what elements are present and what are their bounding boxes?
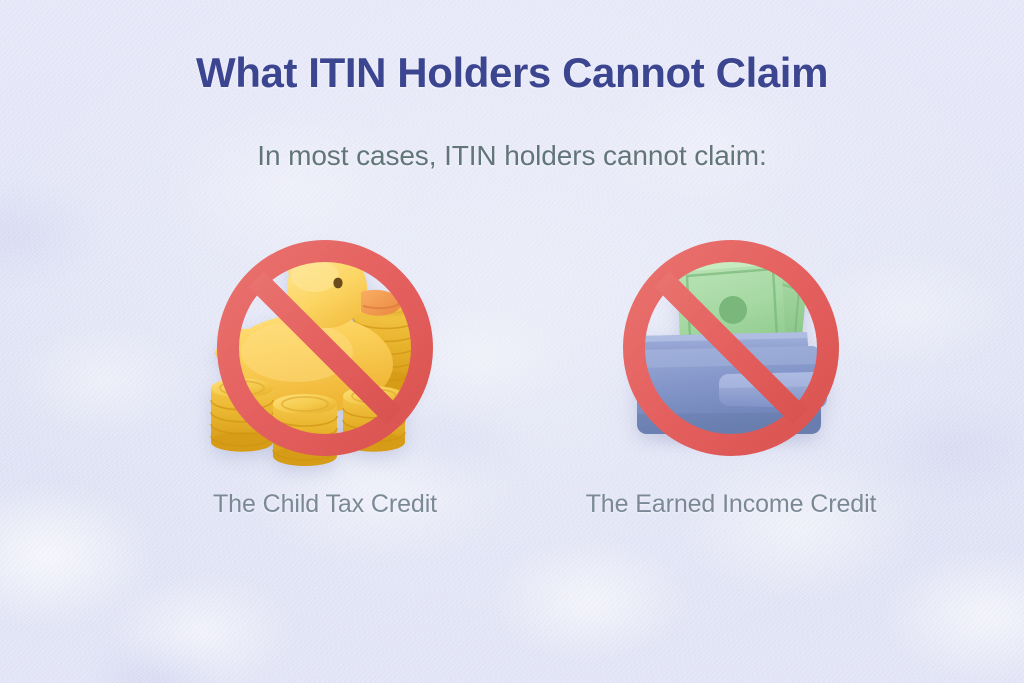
item-caption-earned-income-credit: The Earned Income Credit [541, 490, 921, 519]
item-child-tax-credit: The Child Tax Credit [135, 228, 515, 519]
wallet-front-body [637, 346, 827, 434]
item-caption-child-tax-credit: The Child Tax Credit [135, 490, 515, 519]
rubber-duck-and-coin-stacks-icon [205, 228, 445, 468]
items-row: The Child Tax Credit [0, 228, 1024, 548]
infographic-canvas: What ITIN Holders Cannot Claim In most c… [0, 0, 1024, 683]
coin-stack-front-center [273, 394, 337, 466]
duck-eye [333, 278, 342, 289]
page-subtitle: In most cases, ITIN holders cannot claim… [0, 140, 1024, 172]
banknote-portrait-head [719, 296, 747, 324]
icon-stage-child-tax-credit [205, 228, 445, 468]
duck-beak [361, 290, 401, 316]
wallet-with-banknotes-icon [611, 228, 851, 468]
icon-stage-earned-income-credit [611, 228, 851, 468]
item-earned-income-credit: The Earned Income Credit [541, 228, 921, 519]
page-title: What ITIN Holders Cannot Claim [0, 49, 1024, 97]
coin-stack-front-left [211, 378, 273, 452]
coin-stack-front-right [343, 386, 405, 452]
